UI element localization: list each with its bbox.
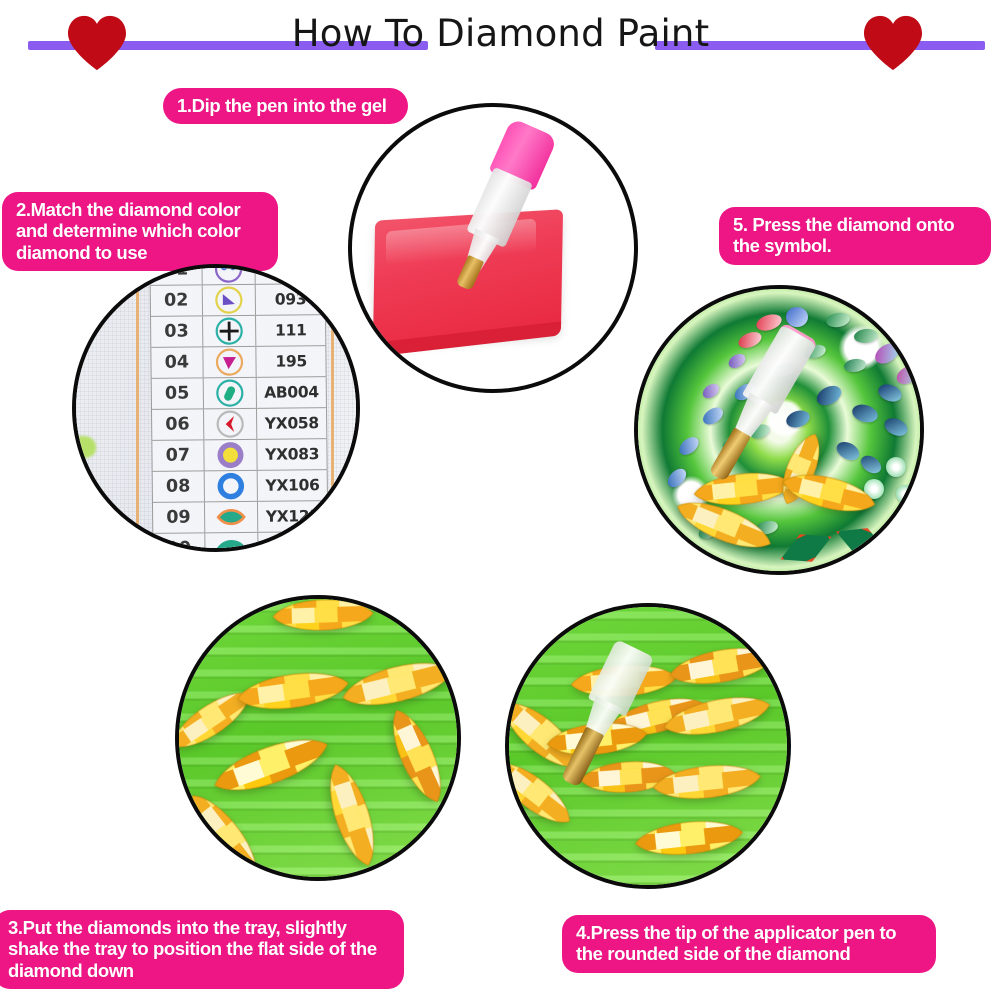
color-legend-table: 0102802093031110419505AB00406YX05807YX08… <box>149 264 328 552</box>
legend-row-code: 093 <box>256 284 326 315</box>
rhinestone <box>786 307 808 327</box>
rhinestone <box>896 485 914 503</box>
legend-symbol-double-dot-circle-icon <box>202 264 256 284</box>
legend-row-code: YX083 <box>258 439 328 470</box>
legend-row-number: 09 <box>153 502 205 533</box>
legend-row-number: 03 <box>151 316 203 347</box>
legend-row-code: YX058 <box>257 408 327 439</box>
canvas-symbol-blob <box>72 436 96 458</box>
legend-symbol-filled-triangle-icon <box>203 347 257 378</box>
legend-row: 06YX058 <box>152 408 327 441</box>
legend-row: 01028 <box>150 264 325 286</box>
photo-pen-dipping-into-gel <box>348 103 638 393</box>
legend-row: 02093 <box>151 284 326 317</box>
legend-row-number: 04 <box>151 347 203 378</box>
legend-row: 07YX083 <box>152 439 327 472</box>
legend-row-code: 195 <box>257 346 327 377</box>
legend-row-number: 06 <box>152 409 204 440</box>
step-2-caption: 2.Match the diamond color and determine … <box>2 192 278 271</box>
canvas-guide-line <box>136 268 139 548</box>
legend-row-number: 01 <box>150 264 202 285</box>
legend-row-number: 07 <box>152 440 204 471</box>
legend-row-code: AB004 <box>257 377 327 408</box>
rhinestone <box>886 457 906 477</box>
page-title: How To Diamond Paint <box>0 12 1001 55</box>
legend-symbol-filled-dot-icon <box>204 440 258 471</box>
legend-row: 09YX125 <box>153 501 328 534</box>
legend-symbol-leaf-marquise-icon <box>205 533 259 552</box>
legend-symbol-open-ring-icon <box>204 471 258 502</box>
step-3-caption: 3.Put the diamonds into the tray, slight… <box>0 910 404 989</box>
legend-row-number: 08 <box>153 471 205 502</box>
legend-symbol-slanted-capsule-icon <box>203 378 257 409</box>
photo-placing-diamond-on-canvas <box>634 285 924 575</box>
legend-row-number: 10 <box>153 533 205 552</box>
legend-row-code: YX106 <box>258 470 328 501</box>
legend-row-code: YX125 <box>258 501 328 532</box>
legend-row: 04195 <box>151 346 326 379</box>
pen-tip <box>561 727 604 788</box>
infographic-page: How To Diamond Paint 1.Dip the pen into … <box>0 0 1001 1001</box>
canvas-guide-line <box>331 268 334 548</box>
pen-tip <box>456 255 485 291</box>
legend-symbol-leaf-marquise-icon <box>205 502 259 533</box>
legend-row: 10 <box>153 532 328 552</box>
legend-symbol-plus-cross-icon <box>203 316 257 347</box>
photo-diamonds-in-green-tray <box>175 595 461 881</box>
legend-row: 05AB004 <box>152 377 327 410</box>
legend-row: 08YX106 <box>153 470 328 503</box>
legend-symbol-triangle-flag-icon <box>202 285 256 316</box>
canvas-symbol-blob <box>78 504 100 524</box>
yellow-marquise-diamond <box>270 595 375 639</box>
legend-symbol-left-arrow-chevron-icon <box>204 409 258 440</box>
step-5-caption: 5. Press the diamond onto the symbol. <box>719 207 991 265</box>
photo-color-legend-chart: 0102802093031110419505AB00406YX05807YX08… <box>72 264 360 552</box>
rhinestone <box>890 517 912 539</box>
canvas-symbol-blob <box>90 550 110 552</box>
legend-row: 03111 <box>151 315 326 348</box>
legend-row-number: 05 <box>152 378 204 409</box>
legend-row-number: 02 <box>151 285 203 316</box>
step-4-caption: 4.Press the tip of the applicator pen to… <box>562 915 936 973</box>
photo-pen-picking-up-diamond <box>505 603 791 889</box>
legend-row-code <box>259 532 329 552</box>
legend-row-code: 111 <box>256 315 326 346</box>
pen-tip <box>708 427 750 482</box>
